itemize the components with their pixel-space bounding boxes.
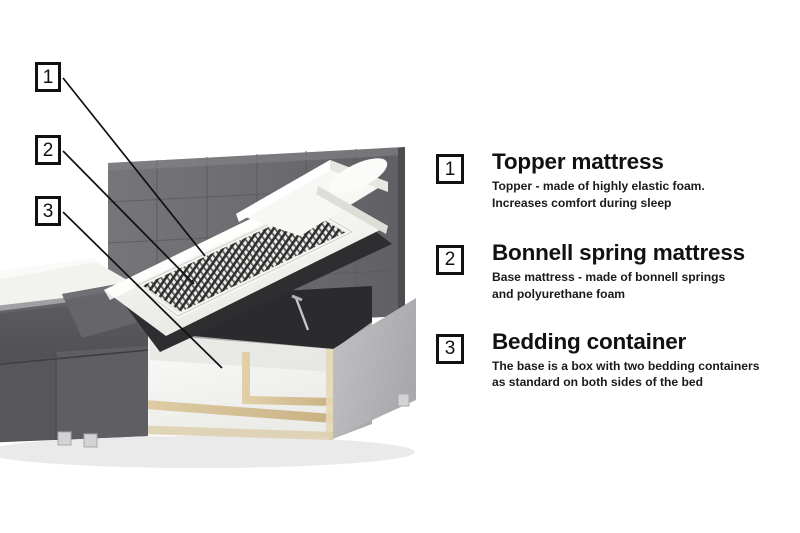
legend-number-3: 3 xyxy=(436,334,464,364)
callout-badge-3: 3 xyxy=(35,196,61,226)
boxspring-bed-graphic xyxy=(0,0,430,533)
wood-edge-right xyxy=(326,349,333,438)
legend-body-1: Topper mattress Topper - made of highly … xyxy=(492,150,792,211)
legend-description-2: Base mattress - made of bonnell springs … xyxy=(492,269,792,302)
legend-item-bedding-container: 3 Bedding container The base is a box wi… xyxy=(436,330,792,391)
callout-badge-1: 1 xyxy=(35,62,61,92)
legend-item-topper-mattress: 1 Topper mattress Topper - made of highl… xyxy=(436,150,792,211)
legend-description-1: Topper - made of highly elastic foam. In… xyxy=(492,178,792,211)
diagram-canvas: 1 2 3 1 Topper mattress Topper - made of… xyxy=(0,0,800,533)
bed-illustration: 1 2 3 xyxy=(0,0,430,533)
legend-list: 1 Topper mattress Topper - made of highl… xyxy=(436,150,792,411)
legend-description-3: The base is a box with two bedding conta… xyxy=(492,358,792,391)
legend-body-3: Bedding container The base is a box with… xyxy=(492,330,792,391)
legend-item-bonnell-spring-mattress: 2 Bonnell spring mattress Base mattress … xyxy=(436,241,792,302)
callout-badge-2: 2 xyxy=(35,135,61,165)
legend-number-1: 1 xyxy=(436,154,464,184)
legend-title-3: Bedding container xyxy=(492,330,792,354)
legend-title-1: Topper mattress xyxy=(492,150,792,174)
legend-body-2: Bonnell spring mattress Base mattress - … xyxy=(492,241,792,302)
legend-title-2: Bonnell spring mattress xyxy=(492,241,792,265)
legend-number-2: 2 xyxy=(436,245,464,275)
